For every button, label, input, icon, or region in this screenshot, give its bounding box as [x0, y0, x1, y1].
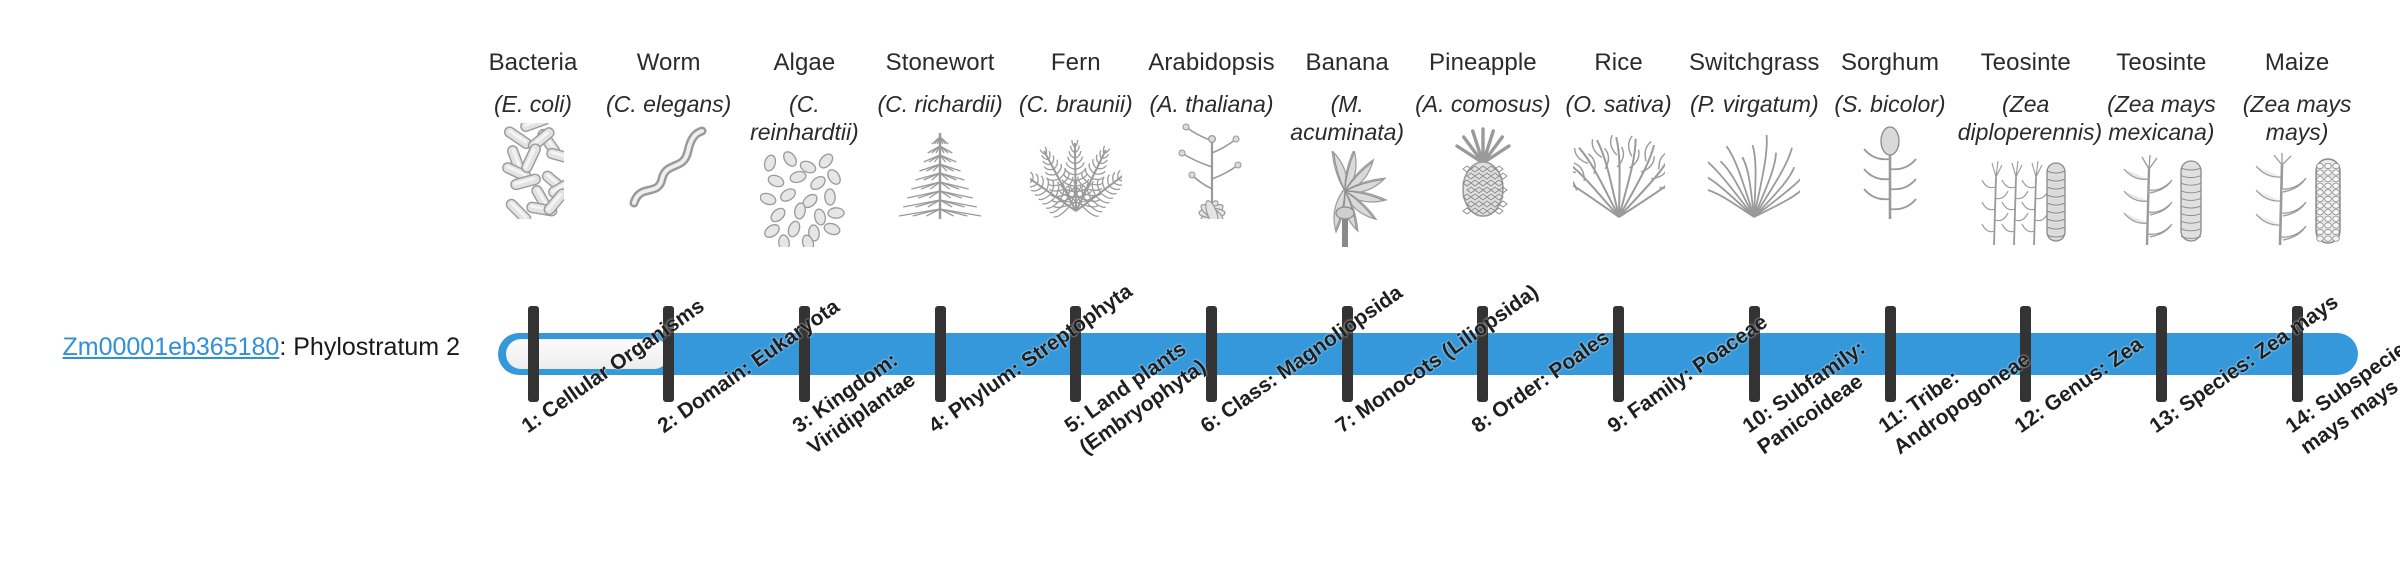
- species-scientific-name: (E. coli): [465, 90, 601, 118]
- stratum-number: 9:: [1603, 408, 1632, 438]
- phylostratum-figure: Zm00001eb365180: Phylostratum 2 Bacteria…: [0, 0, 2400, 580]
- stratum-number: 7:: [1332, 408, 1361, 438]
- species-scientific-name: (M. acuminata): [1279, 90, 1415, 146]
- stratum-number: 2:: [653, 408, 682, 438]
- species-column-bacteria-1: Bacteria(E. coli): [465, 48, 601, 219]
- teosinte-diplo-icon: [1958, 152, 2094, 247]
- species-column-arabidopsis-6: Arabidopsis(A. thaliana): [1144, 48, 1280, 219]
- pineapple-icon: [1415, 124, 1551, 219]
- species-scientific-name: (Zea diploperennis): [1958, 90, 2094, 146]
- banana-icon: [1279, 152, 1415, 247]
- species-column-pineapple-8: Pineapple(A. comosus): [1415, 48, 1551, 219]
- arabidopsis-icon: [1144, 124, 1280, 219]
- species-column-fern-5: Fern(C. braunii): [1008, 48, 1144, 219]
- stonewort-icon: [872, 124, 1008, 219]
- gene-phylostratum-label: Zm00001eb365180: Phylostratum 2: [40, 332, 460, 362]
- species-common-name: Banana: [1279, 48, 1415, 78]
- stratum-tick-1: [528, 306, 539, 402]
- algae-icon: [736, 152, 872, 247]
- phylostratum-value-text: Phylostratum 2: [293, 333, 460, 361]
- species-scientific-name: (C. braunii): [1008, 90, 1144, 118]
- fern-icon: [1008, 124, 1144, 219]
- maize-icon: [2229, 152, 2365, 247]
- species-scientific-name: (O. sativa): [1551, 90, 1687, 118]
- species-column-switchgrass-10: Switchgrass(P. virgatum): [1686, 48, 1822, 219]
- species-column-rice-9: Rice(O. sativa): [1551, 48, 1687, 219]
- species-column-stonewort-4: Stonewort(C. richardii): [872, 48, 1008, 219]
- species-scientific-name: (S. bicolor): [1822, 90, 1958, 118]
- sorghum-icon: [1822, 124, 1958, 219]
- species-scientific-name: (C. elegans): [601, 90, 737, 118]
- species-common-name: Teosinte: [2093, 48, 2229, 78]
- species-common-name: Maize: [2229, 48, 2365, 78]
- gene-id-link[interactable]: Zm00001eb365180: [62, 333, 279, 361]
- species-column-teosinte-13: Teosinte(Zea mays mexicana): [2093, 48, 2229, 247]
- species-common-name: Sorghum: [1822, 48, 1958, 78]
- species-scientific-name: (P. virgatum): [1686, 90, 1822, 118]
- species-scientific-name: (A. comosus): [1415, 90, 1551, 118]
- stratum-number: 6:: [1196, 408, 1225, 438]
- species-common-name: Rice: [1551, 48, 1687, 78]
- species-column-algae-3: Algae(C. reinhardtii): [736, 48, 872, 247]
- stratum-number: 12:: [2010, 401, 2048, 437]
- species-common-name: Bacteria: [465, 48, 601, 78]
- gene-label-separator: :: [279, 333, 293, 361]
- worm-icon: [601, 124, 737, 219]
- species-scientific-name: (Zea mays mexicana): [2093, 90, 2229, 146]
- species-column-maize-14: Maize(Zea mays mays): [2229, 48, 2365, 247]
- switchgrass-icon: [1686, 124, 1822, 219]
- species-scientific-name: (A. thaliana): [1144, 90, 1280, 118]
- species-scientific-name: (C. reinhardtii): [736, 90, 872, 146]
- stratum-number: 8:: [1467, 408, 1496, 438]
- stratum-number: 13:: [2146, 401, 2184, 437]
- species-common-name: Switchgrass: [1686, 48, 1822, 78]
- rice-icon: [1551, 124, 1687, 219]
- species-scientific-name: (Zea mays mays): [2229, 90, 2365, 146]
- stratum-number: 1:: [518, 408, 547, 438]
- species-column-worm-2: Worm(C. elegans): [601, 48, 737, 219]
- species-column-banana-7: Banana(M. acuminata): [1279, 48, 1415, 247]
- teosinte-mexicana-icon: [2093, 152, 2229, 247]
- species-column-teosinte-12: Teosinte(Zea diploperennis): [1958, 48, 2094, 247]
- stratum-number: 4:: [925, 408, 954, 438]
- species-common-name: Algae: [736, 48, 872, 78]
- species-common-name: Stonewort: [872, 48, 1008, 78]
- species-column-sorghum-11: Sorghum(S. bicolor): [1822, 48, 1958, 219]
- species-common-name: Arabidopsis: [1144, 48, 1280, 78]
- species-common-name: Worm: [601, 48, 737, 78]
- species-common-name: Fern: [1008, 48, 1144, 78]
- species-common-name: Pineapple: [1415, 48, 1551, 78]
- species-common-name: Teosinte: [1958, 48, 2094, 78]
- species-scientific-name: (C. richardii): [872, 90, 1008, 118]
- bacteria-icon: [465, 124, 601, 219]
